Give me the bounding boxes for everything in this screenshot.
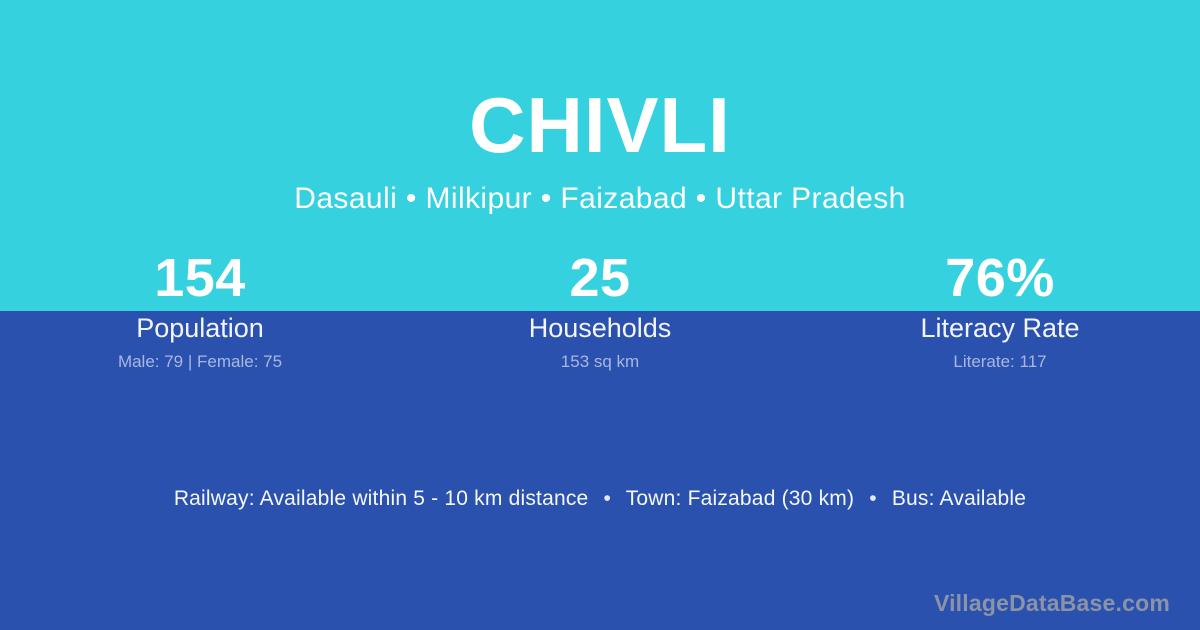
breadcrumb: Dasauli • Milkipur • Faizabad • Uttar Pr…	[0, 168, 1200, 218]
amenity-bus: Bus: Available	[892, 487, 1026, 510]
stat-population: 154 Population Male: 79 | Female: 75	[0, 247, 400, 373]
stat-literacy-rate: 76% Literacy Rate Literate: 117	[800, 247, 1200, 373]
stat-value: 76%	[800, 247, 1200, 309]
page-title: CHIVLI	[0, 0, 1200, 168]
brand-watermark: VillageDataBase.com	[934, 588, 1170, 618]
amenity-railway: Railway: Available within 5 - 10 km dist…	[174, 487, 589, 510]
stat-value: 25	[400, 247, 800, 309]
amenity-town: Town: Faizabad (30 km)	[626, 487, 855, 510]
amenities-line: Railway: Available within 5 - 10 km dist…	[0, 484, 1200, 514]
stat-label: Households	[400, 311, 800, 345]
stat-subtext: 153 sq km	[400, 351, 800, 373]
stat-subtext: Male: 79 | Female: 75	[0, 351, 400, 373]
stat-households: 25 Households 153 sq km	[400, 247, 800, 373]
amenity-separator: •	[594, 487, 620, 510]
village-info-card: CHIVLI Dasauli • Milkipur • Faizabad • U…	[0, 0, 1200, 630]
stat-value: 154	[0, 247, 400, 309]
stat-subtext: Literate: 117	[800, 351, 1200, 373]
stat-label: Population	[0, 311, 400, 345]
stat-label: Literacy Rate	[800, 311, 1200, 345]
stats-row: 154 Population Male: 79 | Female: 75 25 …	[0, 247, 1200, 373]
card-header: CHIVLI Dasauli • Milkipur • Faizabad • U…	[0, 0, 1200, 218]
amenity-separator: •	[860, 487, 886, 510]
